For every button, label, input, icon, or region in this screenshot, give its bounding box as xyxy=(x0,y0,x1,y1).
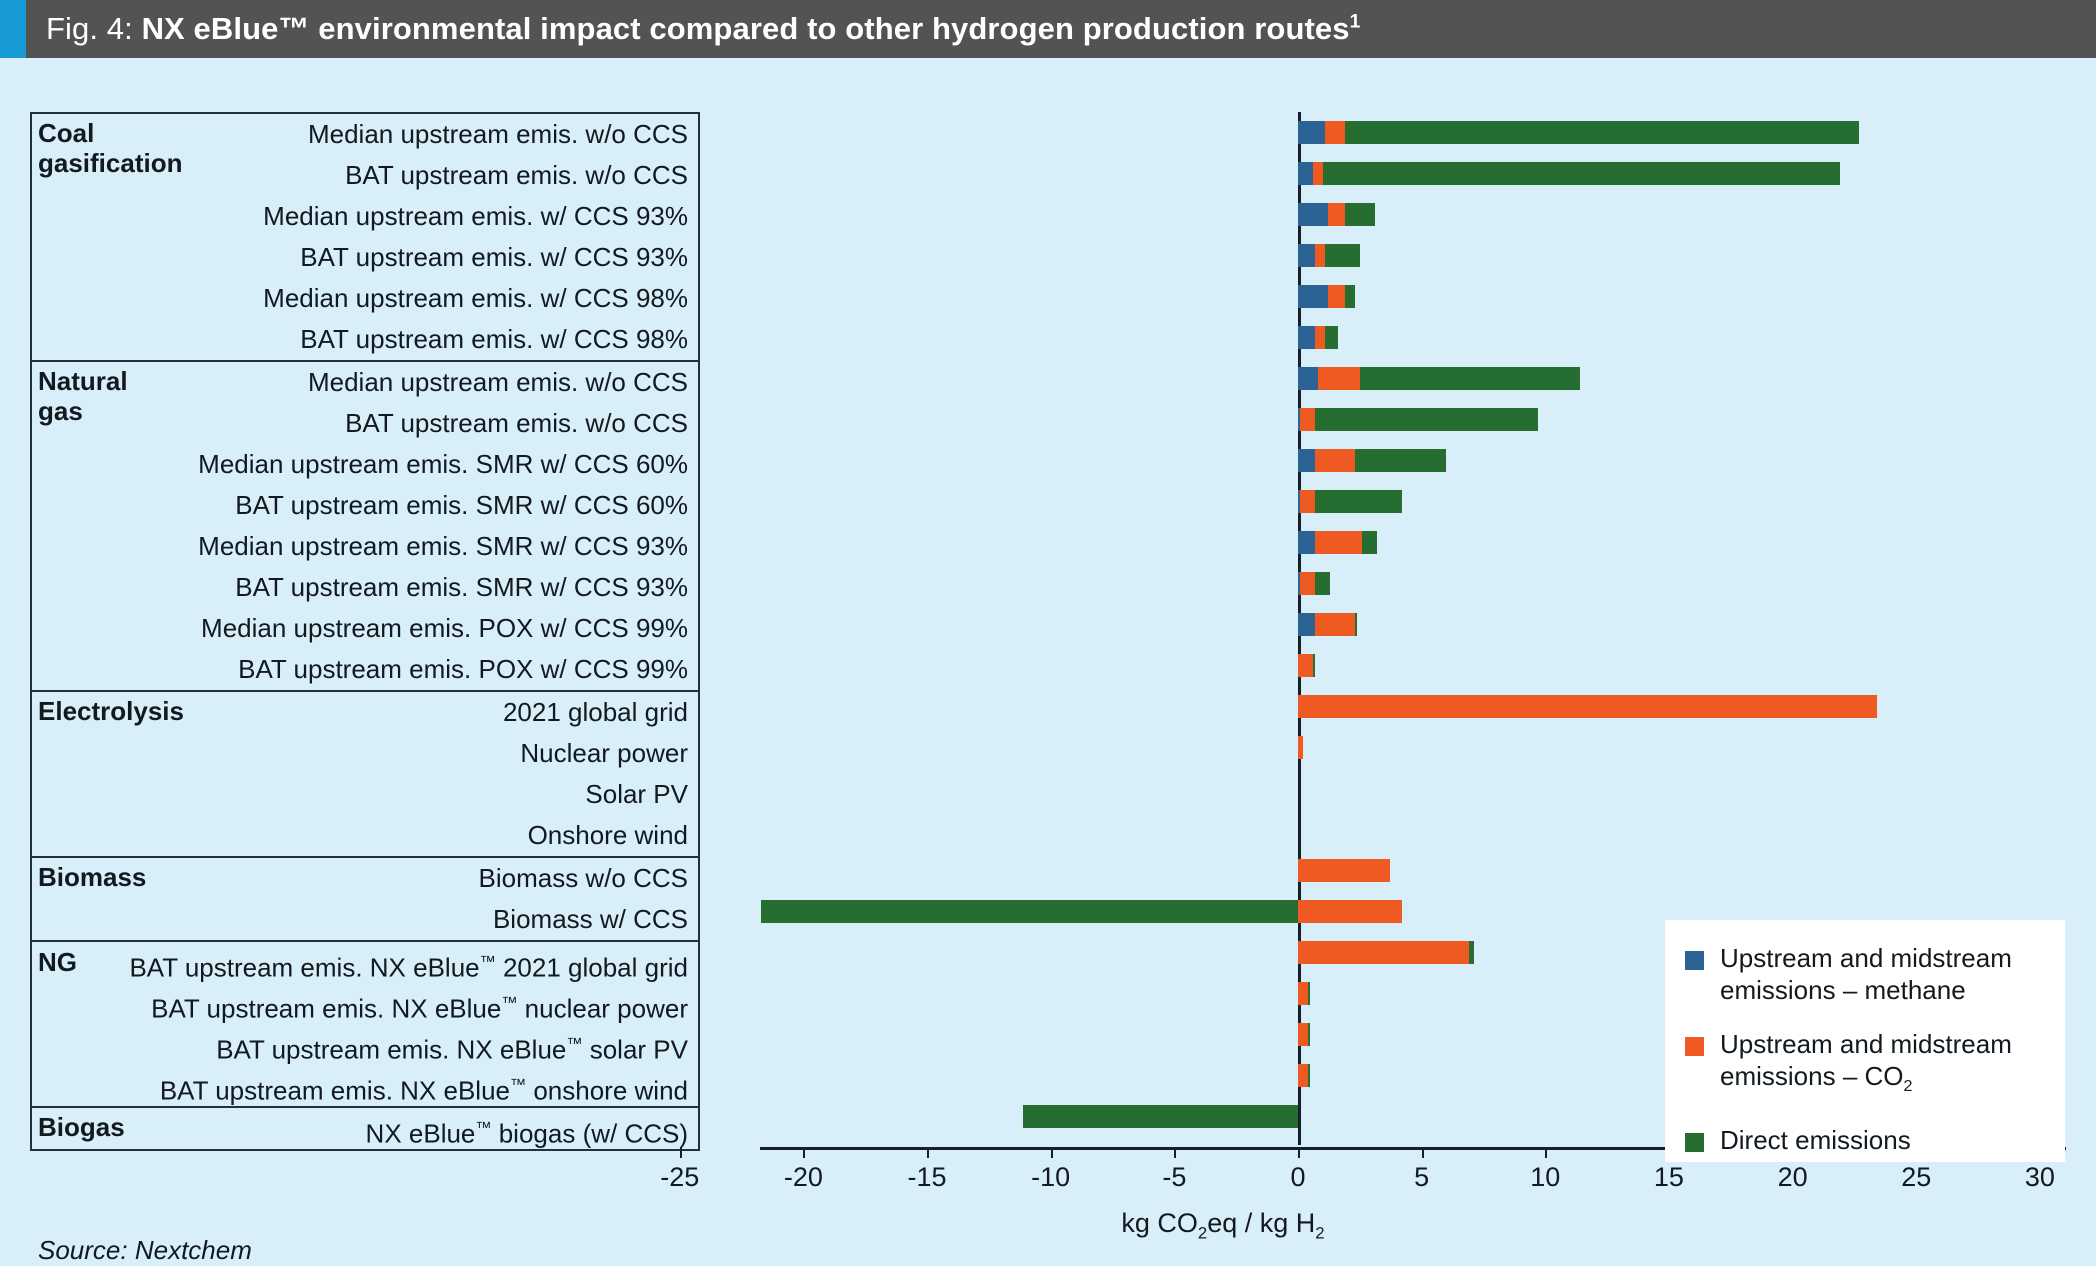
legend-item-direct[interactable]: Direct emissions xyxy=(1685,1124,2045,1156)
bar-segment-direct xyxy=(1345,203,1375,226)
x-axis-tick-label: -25 xyxy=(660,1162,699,1193)
bar-row xyxy=(760,440,2066,481)
legend-item-methane[interactable]: Upstream and midstreamemissions – methan… xyxy=(1685,942,2045,1006)
bar-row xyxy=(760,850,2066,891)
figure-number: Fig. 4: xyxy=(46,11,142,46)
bar-segment-co2 xyxy=(1298,1023,1308,1046)
bar-row xyxy=(760,768,2066,809)
bar-segment-co2 xyxy=(1300,408,1315,431)
x-axis-tick xyxy=(1545,1147,1547,1158)
source-note: Source: Nextchem xyxy=(38,1235,252,1266)
label-group: NGBAT upstream emis. NX eBlue™ 2021 glob… xyxy=(32,942,698,1108)
bar-segment-methane xyxy=(1298,244,1315,267)
header-accent-stripe xyxy=(0,0,26,58)
row-label: Nuclear power xyxy=(32,733,698,774)
bar-row xyxy=(760,153,2066,194)
x-axis-tick-label: -20 xyxy=(784,1162,823,1193)
x-axis-title: kg CO2eq / kg H2 xyxy=(0,1208,2096,1243)
bar-segment-co2 xyxy=(1325,121,1345,144)
bar-segment-direct-negative xyxy=(761,900,1298,923)
row-label: BAT upstream emis. SMR w/ CCS 93% xyxy=(32,567,698,608)
x-axis-tick-label: 30 xyxy=(2025,1162,2055,1193)
bar-segment-direct xyxy=(1469,941,1474,964)
figure-title: Fig. 4: NX eBlue™ environmental impact c… xyxy=(26,11,1360,47)
bar-segment-co2 xyxy=(1315,531,1362,554)
bar-segment-direct xyxy=(1362,531,1377,554)
x-axis-tick-label: 25 xyxy=(1901,1162,1931,1193)
bar-segment-direct xyxy=(1323,162,1840,185)
bar-row xyxy=(760,112,2066,153)
bar-segment-co2 xyxy=(1328,285,1345,308)
legend-label-direct: Direct emissions xyxy=(1720,1124,1911,1156)
bar-row xyxy=(760,563,2066,604)
bar-segment-direct xyxy=(1315,490,1402,513)
group-title: Biogas xyxy=(38,1112,125,1142)
bar-segment-co2 xyxy=(1298,941,1469,964)
bar-segment-co2 xyxy=(1298,900,1402,923)
row-label: Median upstream emis. w/ CCS 98% xyxy=(32,278,698,319)
bar-segment-methane xyxy=(1298,203,1328,226)
bar-segment-direct xyxy=(1355,449,1447,472)
row-label: Median upstream emis. w/o CCS xyxy=(32,362,698,403)
bar-row xyxy=(760,399,2066,440)
bar-segment-direct xyxy=(1313,654,1315,677)
row-label: BAT upstream emis. NX eBlue™ solar PV xyxy=(32,1024,698,1065)
group-title: Coal gasification xyxy=(38,118,182,178)
bar-segment-co2 xyxy=(1298,859,1390,882)
label-group: BiogasNX eBlue™ biogas (w/ CCS) xyxy=(32,1108,698,1149)
bar-row xyxy=(760,727,2066,768)
row-label: BAT upstream emis. w/ CCS 98% xyxy=(32,319,698,360)
chart-legend: Upstream and midstreamemissions – methan… xyxy=(1665,920,2065,1162)
bar-segment-direct-negative xyxy=(1023,1105,1298,1128)
bar-segment-co2 xyxy=(1315,613,1355,636)
bar-segment-direct xyxy=(1345,121,1859,144)
bar-segment-co2 xyxy=(1298,736,1303,759)
x-axis-tick-label: -10 xyxy=(1031,1162,1070,1193)
bar-segment-methane xyxy=(1298,613,1315,636)
bar-row xyxy=(760,317,2066,358)
label-group: BiomassBiomass w/o CCSBiomass w/ CCS xyxy=(32,858,698,942)
x-axis-tick-label: -15 xyxy=(908,1162,947,1193)
row-label-table: Coal gasificationMedian upstream emis. w… xyxy=(30,112,700,1151)
row-label: Biomass w/ CCS xyxy=(32,899,698,940)
bar-row xyxy=(760,522,2066,563)
row-label: Median upstream emis. SMR w/ CCS 60% xyxy=(32,444,698,485)
x-axis-tick xyxy=(927,1147,929,1158)
label-group: Coal gasificationMedian upstream emis. w… xyxy=(32,114,698,362)
bar-row xyxy=(760,194,2066,235)
bar-row xyxy=(760,235,2066,276)
legend-swatch-direct xyxy=(1685,1133,1704,1152)
bar-segment-methane xyxy=(1298,367,1318,390)
figure-title-text: NX eBlue™ environmental impact compared … xyxy=(142,11,1350,46)
bar-row xyxy=(760,604,2066,645)
bar-segment-methane xyxy=(1298,285,1328,308)
bar-segment-co2 xyxy=(1313,162,1323,185)
bar-segment-direct xyxy=(1315,408,1538,431)
bar-segment-co2 xyxy=(1298,654,1313,677)
bar-segment-co2 xyxy=(1298,695,1877,718)
x-axis-tick-label: 0 xyxy=(1290,1162,1305,1193)
x-axis-tick xyxy=(1051,1147,1053,1158)
group-title: Natural gas xyxy=(38,366,128,426)
row-label: BAT upstream emis. w/o CCS xyxy=(32,403,698,444)
row-label: Solar PV xyxy=(32,774,698,815)
bar-segment-methane xyxy=(1298,326,1315,349)
bar-segment-co2 xyxy=(1315,244,1325,267)
x-axis-title-text: kg CO2eq / kg H2 xyxy=(1121,1208,1324,1243)
bar-segment-direct xyxy=(1345,285,1355,308)
figure-title-footnote-marker: 1 xyxy=(1350,12,1361,33)
row-label: BAT upstream emis. POX w/ CCS 99% xyxy=(32,649,698,690)
bar-segment-direct xyxy=(1308,982,1310,1005)
bar-row xyxy=(760,358,2066,399)
bar-segment-direct xyxy=(1308,1064,1310,1087)
figure-header-bar: Fig. 4: NX eBlue™ environmental impact c… xyxy=(0,0,2096,58)
row-label: BAT upstream emis. NX eBlue™ onshore win… xyxy=(32,1065,698,1106)
bar-row xyxy=(760,809,2066,850)
bar-segment-direct xyxy=(1355,613,1357,636)
row-label: Median upstream emis. SMR w/ CCS 93% xyxy=(32,526,698,567)
row-label: BAT upstream emis. NX eBlue™ 2021 global… xyxy=(32,942,698,983)
bar-segment-methane xyxy=(1298,531,1315,554)
bar-segment-co2 xyxy=(1315,326,1325,349)
legend-label-co2: Upstream and midstreamemissions – CO2 xyxy=(1720,1028,2012,1102)
x-axis-tick-label: 15 xyxy=(1654,1162,1684,1193)
row-label: Median upstream emis. POX w/ CCS 99% xyxy=(32,608,698,649)
bar-segment-co2 xyxy=(1298,1064,1308,1087)
x-axis-tick-label: 5 xyxy=(1414,1162,1429,1193)
bar-row xyxy=(760,276,2066,317)
bar-row xyxy=(760,686,2066,727)
x-axis-tick-label: 20 xyxy=(1778,1162,1808,1193)
bar-segment-co2 xyxy=(1315,449,1355,472)
bar-segment-co2 xyxy=(1300,490,1315,513)
x-axis-tick-label: -5 xyxy=(1162,1162,1186,1193)
bar-segment-methane xyxy=(1298,449,1315,472)
x-axis-tick xyxy=(1298,1147,1300,1158)
x-axis-tick-label: 10 xyxy=(1530,1162,1560,1193)
row-label: Median upstream emis. w/ CCS 93% xyxy=(32,196,698,237)
chart-area: Coal gasificationMedian upstream emis. w… xyxy=(0,58,2096,1261)
bar-row xyxy=(760,481,2066,522)
bar-row xyxy=(760,645,2066,686)
x-axis-tick xyxy=(1422,1147,1424,1158)
bar-segment-co2 xyxy=(1298,982,1308,1005)
legend-item-co2[interactable]: Upstream and midstreamemissions – CO2 xyxy=(1685,1028,2045,1102)
group-title: NG xyxy=(38,942,77,983)
group-title: Biomass xyxy=(38,862,146,892)
bar-segment-co2 xyxy=(1300,572,1315,595)
bar-segment-methane xyxy=(1298,121,1325,144)
row-label: NX eBlue™ biogas (w/ CCS) xyxy=(32,1108,698,1149)
group-title: Electrolysis xyxy=(38,696,184,726)
legend-swatch-co2 xyxy=(1685,1037,1704,1056)
x-axis-tick xyxy=(803,1147,805,1158)
bar-segment-direct xyxy=(1360,367,1580,390)
legend-swatch-methane xyxy=(1685,951,1704,970)
row-label: BAT upstream emis. w/ CCS 93% xyxy=(32,237,698,278)
label-group: Natural gasMedian upstream emis. w/o CCS… xyxy=(32,362,698,692)
bar-segment-direct xyxy=(1325,326,1337,349)
bar-segment-co2 xyxy=(1318,367,1360,390)
label-group: Electrolysis2021 global gridNuclear powe… xyxy=(32,692,698,858)
row-label: BAT upstream emis. SMR w/ CCS 60% xyxy=(32,485,698,526)
bar-segment-direct xyxy=(1315,572,1330,595)
x-axis-tick xyxy=(680,1147,682,1158)
bar-segment-direct xyxy=(1325,244,1360,267)
legend-label-methane: Upstream and midstreamemissions – methan… xyxy=(1720,942,2012,1006)
bar-segment-co2 xyxy=(1328,203,1345,226)
x-axis-tick xyxy=(1174,1147,1176,1158)
bar-segment-direct xyxy=(1308,1023,1310,1046)
row-label: Onshore wind xyxy=(32,815,698,856)
row-label: BAT upstream emis. NX eBlue™ nuclear pow… xyxy=(32,983,698,1024)
bar-segment-methane xyxy=(1298,162,1313,185)
